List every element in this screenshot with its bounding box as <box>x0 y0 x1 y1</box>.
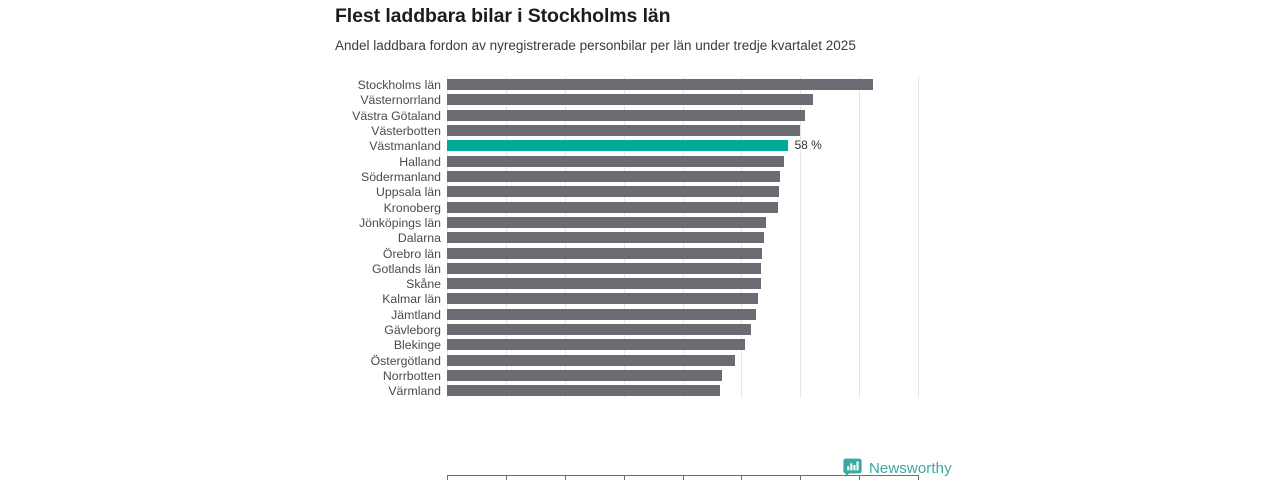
bar <box>447 324 751 335</box>
bar <box>447 385 720 396</box>
x-axis-tick <box>565 475 566 480</box>
category-label: Värmland <box>300 385 441 398</box>
x-axis-tick <box>800 475 801 480</box>
category-label: Örebro län <box>300 248 441 261</box>
chart-subtitle: Andel laddbara fordon av nyregistrerade … <box>335 28 955 54</box>
bar <box>447 355 735 366</box>
bar <box>447 79 873 90</box>
category-label: Dalarna <box>300 232 441 245</box>
x-axis-tick <box>447 475 448 480</box>
category-label: Västernorrland <box>300 94 441 107</box>
chart-plot-wrapper: Stockholms länVästernorrlandVästra Götal… <box>0 76 1280 426</box>
category-label: Jönköpings län <box>300 217 441 230</box>
gridline <box>918 76 919 398</box>
category-label: Blekinge <box>300 339 441 352</box>
bar <box>447 339 745 350</box>
category-label: Kronoberg <box>300 202 441 215</box>
bar <box>447 309 756 320</box>
bar <box>447 263 761 274</box>
category-label: Västmanland <box>300 140 441 153</box>
bar <box>447 94 813 105</box>
bar <box>447 125 800 136</box>
gridline <box>859 76 860 398</box>
bar-value-label: 58 % <box>794 140 821 151</box>
chart-header: Flest laddbara bilar i Stockholms län An… <box>335 0 955 54</box>
category-label: Jämtland <box>300 309 441 322</box>
page-title: Flest laddbara bilar i Stockholms län <box>335 0 955 28</box>
category-label: Uppsala län <box>300 186 441 199</box>
bar <box>447 171 780 182</box>
bar <box>447 186 779 197</box>
bar <box>447 278 761 289</box>
bar <box>447 370 722 381</box>
chart-page: Flest laddbara bilar i Stockholms län An… <box>0 0 1280 480</box>
category-label: Halland <box>300 156 441 169</box>
category-label: Stockholms län <box>300 79 441 92</box>
category-label: Västerbotten <box>300 125 441 138</box>
category-label: Södermanland <box>300 171 441 184</box>
category-label: Norrbotten <box>300 370 441 383</box>
category-label: Östergötland <box>300 355 441 368</box>
gridline <box>800 76 801 398</box>
x-axis-tick <box>624 475 625 480</box>
x-axis-tick <box>741 475 742 480</box>
bar <box>447 248 762 259</box>
newsworthy-logo: Newsworthy <box>843 458 952 478</box>
bar <box>447 232 764 243</box>
plot-area: 58 % <box>447 76 918 398</box>
newsworthy-brand-text: Newsworthy <box>869 460 952 477</box>
bar <box>447 293 758 304</box>
bar <box>447 202 778 213</box>
bar <box>447 156 784 167</box>
category-axis-labels: Stockholms länVästernorrlandVästra Götal… <box>300 76 441 398</box>
bar <box>447 140 788 151</box>
bar <box>447 217 766 228</box>
x-axis-tick <box>506 475 507 480</box>
category-label: Västra Götaland <box>300 110 441 123</box>
category-label: Gotlands län <box>300 263 441 276</box>
newsworthy-barchart-bubble-icon <box>843 458 862 478</box>
category-label: Gävleborg <box>300 324 441 337</box>
category-label: Skåne <box>300 278 441 291</box>
category-label: Kalmar län <box>300 293 441 306</box>
x-axis-tick <box>683 475 684 480</box>
bar <box>447 110 805 121</box>
